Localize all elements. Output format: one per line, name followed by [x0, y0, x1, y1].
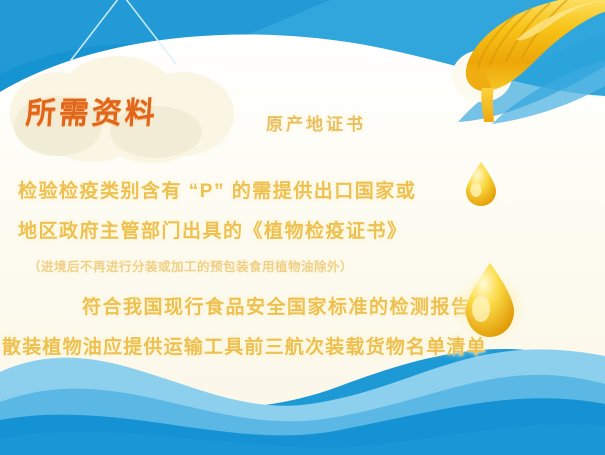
requirement-line-2: 地区政府主管部门出具的《植物检疫证书》 — [18, 216, 408, 243]
oil-droplet-small-icon — [462, 160, 500, 208]
requirement-note: （进境后不再进行分装或加工的预包装食用植物油除外） — [28, 256, 353, 275]
oil-droplet-large-icon — [450, 255, 530, 347]
requirement-line-3: 符合我国现行食品安全国家标准的检测报告 — [82, 292, 472, 319]
oil-bottle-icon — [420, 0, 605, 122]
infographic-poster: 所需资料 原产地证书 检验检疫类别含有 “P” 的需提供出口国家或 地区政府主管… — [0, 0, 605, 455]
requirement-line-4: 散装植物油应提供运输工具前三航次装载货物名单清单 — [2, 332, 487, 359]
requirement-line-1: 检验检疫类别含有 “P” 的需提供出口国家或 — [18, 176, 416, 203]
page-title: 所需资料 — [24, 88, 159, 132]
subtitle-origin-certificate: 原产地证书 — [266, 110, 366, 135]
